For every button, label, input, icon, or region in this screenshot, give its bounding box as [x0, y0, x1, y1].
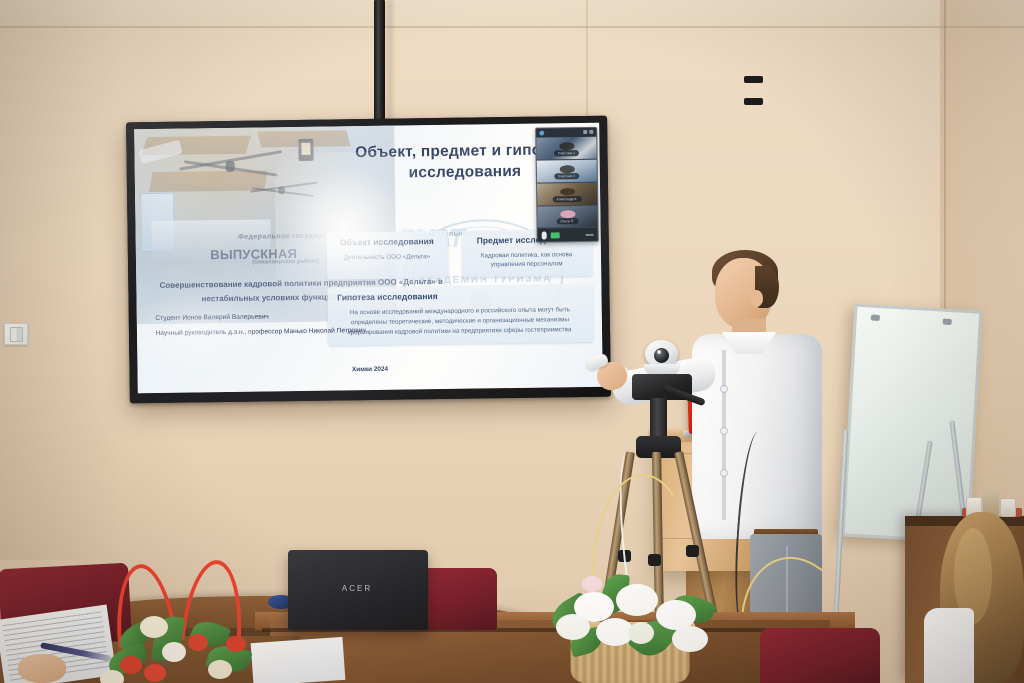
- participant-tiles: Участник 1 Участник 2 Александр К.: [536, 137, 598, 229]
- white-chrysanthemum-basket: [540, 556, 720, 683]
- webcam-lens-icon: [654, 348, 669, 363]
- wall-seam: [0, 26, 1024, 28]
- camera-icon: [539, 130, 544, 135]
- hand-with-pen: [18, 654, 66, 683]
- chrysanthemum: [628, 622, 654, 644]
- camera-on-icon[interactable]: [550, 232, 559, 238]
- flipchart-clip-left: [871, 315, 880, 321]
- bouquet-flower: [140, 616, 168, 638]
- ceiling-mount-pole: [374, 0, 385, 122]
- slide-authors: Студент Ионов Валерий Валерьевич Научный…: [155, 308, 397, 342]
- more-options-icon[interactable]: [586, 234, 594, 236]
- shirt-button: [721, 386, 727, 392]
- participant-tile[interactable]: Участник 1: [536, 137, 597, 161]
- bouquet-flower: [208, 660, 232, 679]
- chrysanthemum: [556, 614, 590, 640]
- seated-woman-with-long-hair: [928, 512, 1024, 683]
- participant-avatar: [560, 188, 576, 196]
- box-subject-body: Кадровая политика, как основа управления…: [461, 249, 591, 270]
- papers-on-table: [251, 637, 346, 683]
- ghost-text-line4: (бакалаврская работа): [252, 259, 319, 266]
- box-object-body: Деятельность ООО «Дельта»: [327, 251, 448, 262]
- flipchart-clip-right: [943, 319, 952, 325]
- ceiling-fan-hub: [278, 186, 285, 194]
- bouquet-flower: [144, 664, 166, 682]
- pole-clamp-upper: [744, 76, 763, 83]
- black-laptop[interactable]: ACER: [288, 550, 428, 630]
- window-controls[interactable]: [583, 130, 593, 134]
- video-conference-controls[interactable]: [537, 228, 598, 242]
- participant-name: Участник 1: [554, 150, 579, 156]
- wall-shadow: [0, 0, 120, 560]
- box-hypothesis-heading: Гипотеза исследования: [327, 289, 592, 303]
- presentation-slide: Федеральное государственное бюджетное об…: [134, 123, 603, 393]
- participant-name: Участник 2: [554, 173, 579, 179]
- participant-tile[interactable]: Александр К.: [537, 183, 598, 207]
- participant-avatar: [559, 142, 575, 150]
- minimize-icon[interactable]: [583, 130, 587, 134]
- slide-place-year: Химки 2024: [138, 363, 603, 376]
- maximize-icon[interactable]: [589, 130, 593, 134]
- participant-tile[interactable]: Участник 2: [536, 160, 597, 184]
- pole-clamp-lower: [744, 98, 763, 105]
- ceiling-beam: [149, 170, 267, 191]
- participant-avatar: [560, 210, 576, 218]
- presenter-shirt-placket: [722, 350, 726, 520]
- participant-tile[interactable]: Ольга П.: [537, 205, 598, 229]
- wall-light-switch[interactable]: [4, 323, 28, 345]
- conference-room-photo: Федеральное государственное бюджетное об…: [0, 0, 1024, 683]
- presenter-ear: [750, 290, 763, 307]
- participant-name: Ольга П.: [556, 219, 578, 225]
- box-object-heading: Объект исследования: [326, 235, 447, 247]
- pole-shadow: [386, 0, 393, 120]
- woman-white-blouse: [924, 608, 974, 683]
- tv-screen[interactable]: Федеральное государственное бюджетное об…: [134, 123, 603, 393]
- microphone-icon[interactable]: [541, 231, 546, 239]
- shirt-button: [721, 428, 727, 434]
- pink-bud: [582, 576, 602, 592]
- ceiling-fan-hub: [226, 161, 235, 172]
- bouquet-flower: [188, 634, 208, 651]
- wall-mounted-television: Федеральное государственное бюджетное об…: [126, 116, 611, 404]
- hanging-lantern: [298, 138, 313, 160]
- bouquet-flower: [120, 656, 142, 674]
- video-conference-panel[interactable]: Участник 1 Участник 2 Александр К.: [535, 127, 599, 243]
- slide-box-object: Объект исследования Деятельность ООО «Де…: [326, 230, 448, 279]
- red-conference-chair: [760, 628, 880, 683]
- red-conference-chair: [419, 568, 497, 630]
- flower-bouquet-red-handles: [100, 560, 260, 683]
- chrysanthemum: [616, 584, 658, 616]
- bouquet-flower: [100, 670, 124, 683]
- bouquet-flower: [226, 636, 246, 652]
- laptop-brand-logo: ACER: [340, 584, 374, 593]
- shirt-button: [721, 470, 727, 476]
- participant-avatar: [559, 165, 575, 173]
- participant-name: Александр К.: [552, 196, 581, 202]
- wall-upper-band: [0, 0, 1024, 28]
- bouquet-flower: [162, 642, 186, 662]
- chrysanthemum: [672, 626, 708, 652]
